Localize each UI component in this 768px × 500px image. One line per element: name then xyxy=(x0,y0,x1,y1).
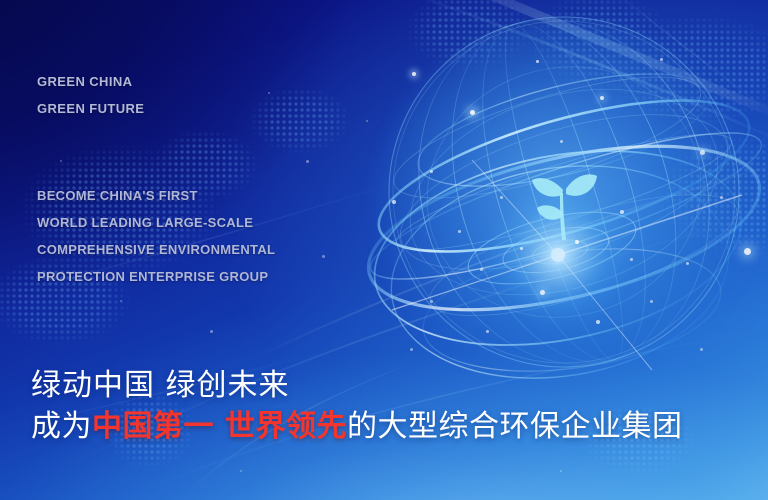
chinese-headline-line-1: 绿动中国 绿创未来 xyxy=(31,366,682,406)
english-mission-line-2: WORLD LEADING LARGE-SCALE xyxy=(37,209,275,236)
chinese-headline-line-2: 成为中国第一 世界领先的大型综合环保企业集团 xyxy=(31,406,682,448)
chinese-headline-highlight: 中国第一 世界领先 xyxy=(92,409,347,444)
english-slogan-top: GREEN CHINA GREEN FUTURE xyxy=(37,68,144,122)
english-mission-statement: BECOME CHINA'S FIRST WORLD LEADING LARGE… xyxy=(37,182,275,290)
english-mission-line-3: COMPREHENSIVE ENVIRONMENTAL xyxy=(37,236,275,263)
chinese-headline-prefix: 成为 xyxy=(31,409,92,444)
english-mission-line-4: PROTECTION ENTERPRISE GROUP xyxy=(37,263,275,290)
chinese-headline-suffix: 的大型综合环保企业集团 xyxy=(347,409,683,444)
chinese-headline: 绿动中国 绿创未来 成为中国第一 世界领先的大型综合环保企业集团 xyxy=(31,366,682,448)
english-mission-line-1: BECOME CHINA'S FIRST xyxy=(37,182,275,209)
english-slogan-line-1: GREEN CHINA xyxy=(37,68,144,95)
hero-banner: GREEN CHINA GREEN FUTURE BECOME CHINA'S … xyxy=(0,0,768,500)
english-slogan-line-2: GREEN FUTURE xyxy=(37,95,144,122)
